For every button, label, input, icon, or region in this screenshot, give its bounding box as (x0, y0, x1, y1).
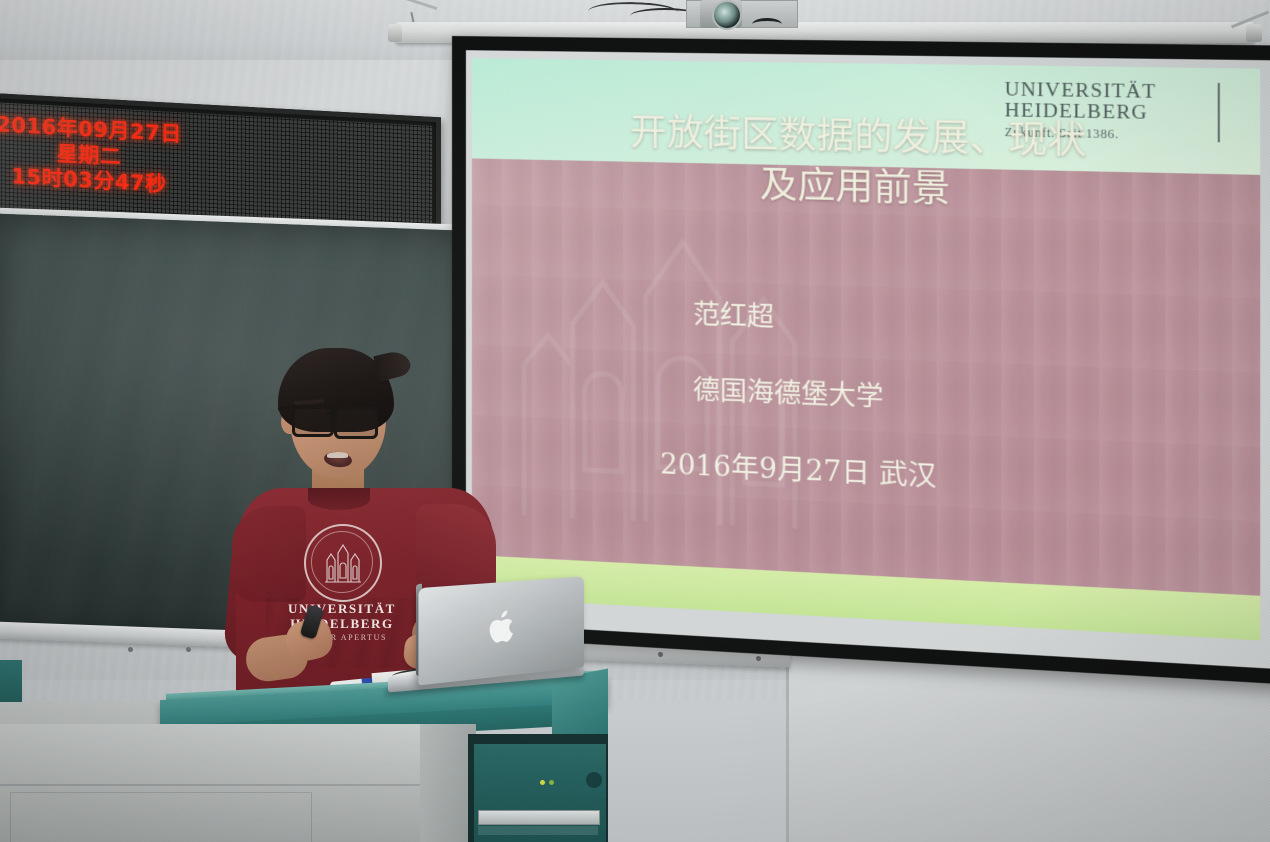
apple-icon (488, 609, 517, 646)
camera-cable (752, 18, 782, 31)
classroom-photo-scene: 2016年09月27日 星期二 15时03分47秒 UNIVERSITÄT HE… (0, 0, 1270, 842)
cabinet-seam (0, 784, 424, 786)
pc-knob[interactable] (586, 772, 602, 788)
heidelberg-seal-icon (304, 524, 382, 602)
cabinet-door[interactable] (10, 792, 312, 842)
tray-screw (128, 647, 133, 652)
glasses-bridge (326, 412, 337, 415)
glasses-lens-left (292, 406, 334, 437)
roller-cap-right (1246, 24, 1262, 42)
slide-affiliation: 德国海德堡大学 (693, 377, 1230, 425)
slide-meta-block: 范红超 德国海德堡大学 2016年9月27日 武汉 (652, 300, 1230, 504)
roller-cap-left (388, 24, 402, 42)
security-camera-icon (714, 2, 740, 28)
macbook-laptop[interactable] (380, 582, 596, 694)
presenter-hair-tuft (373, 348, 412, 381)
presenter-shoulder-left (232, 506, 306, 602)
pc-front-panel (478, 826, 598, 835)
optical-drive[interactable] (478, 810, 600, 825)
pc-power-led (540, 780, 545, 785)
tshirt-collar (308, 488, 370, 510)
tray-screw (186, 647, 191, 652)
slide-title: 开放街区数据的发展、现状 及应用前景 (512, 107, 1216, 223)
presenter-teeth (327, 452, 348, 458)
pc-activity-led (549, 780, 554, 785)
projected-slide: UNIVERSITÄT HEIDELBERG Zukunft. Seit 138… (472, 58, 1260, 640)
seal-building-icon (322, 540, 364, 584)
glasses-lens-right (334, 407, 378, 439)
